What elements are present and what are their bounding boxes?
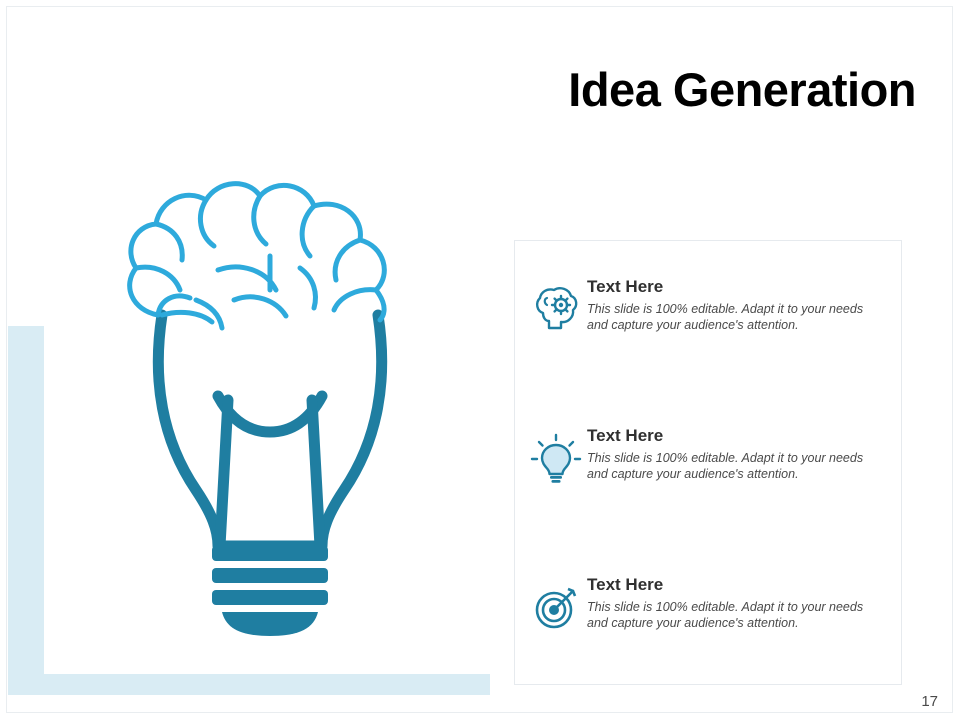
list-item-text: Text Here This slide is 100% editable. A… [587,277,887,333]
list-item-body: This slide is 100% editable. Adapt it to… [587,599,879,631]
brain-gear-icon [529,283,583,337]
list-item-heading: Text Here [587,575,887,595]
list-item-body: This slide is 100% editable. Adapt it to… [587,301,879,333]
slide: Idea Generation [0,0,960,720]
list-item-text: Text Here This slide is 100% editable. A… [587,426,887,482]
list-item-body: This slide is 100% editable. Adapt it to… [587,450,879,482]
lightbulb-icon [529,432,583,486]
list-item-heading: Text Here [587,277,887,297]
list-item-heading: Text Here [587,426,887,446]
brain-lightbulb-illustration [100,150,440,640]
content-card: Text Here This slide is 100% editable. A… [514,240,902,685]
page-title: Idea Generation [568,62,916,117]
target-dartboard-icon [529,581,583,635]
page-number: 17 [921,693,938,710]
list-item-text: Text Here This slide is 100% editable. A… [587,575,887,631]
